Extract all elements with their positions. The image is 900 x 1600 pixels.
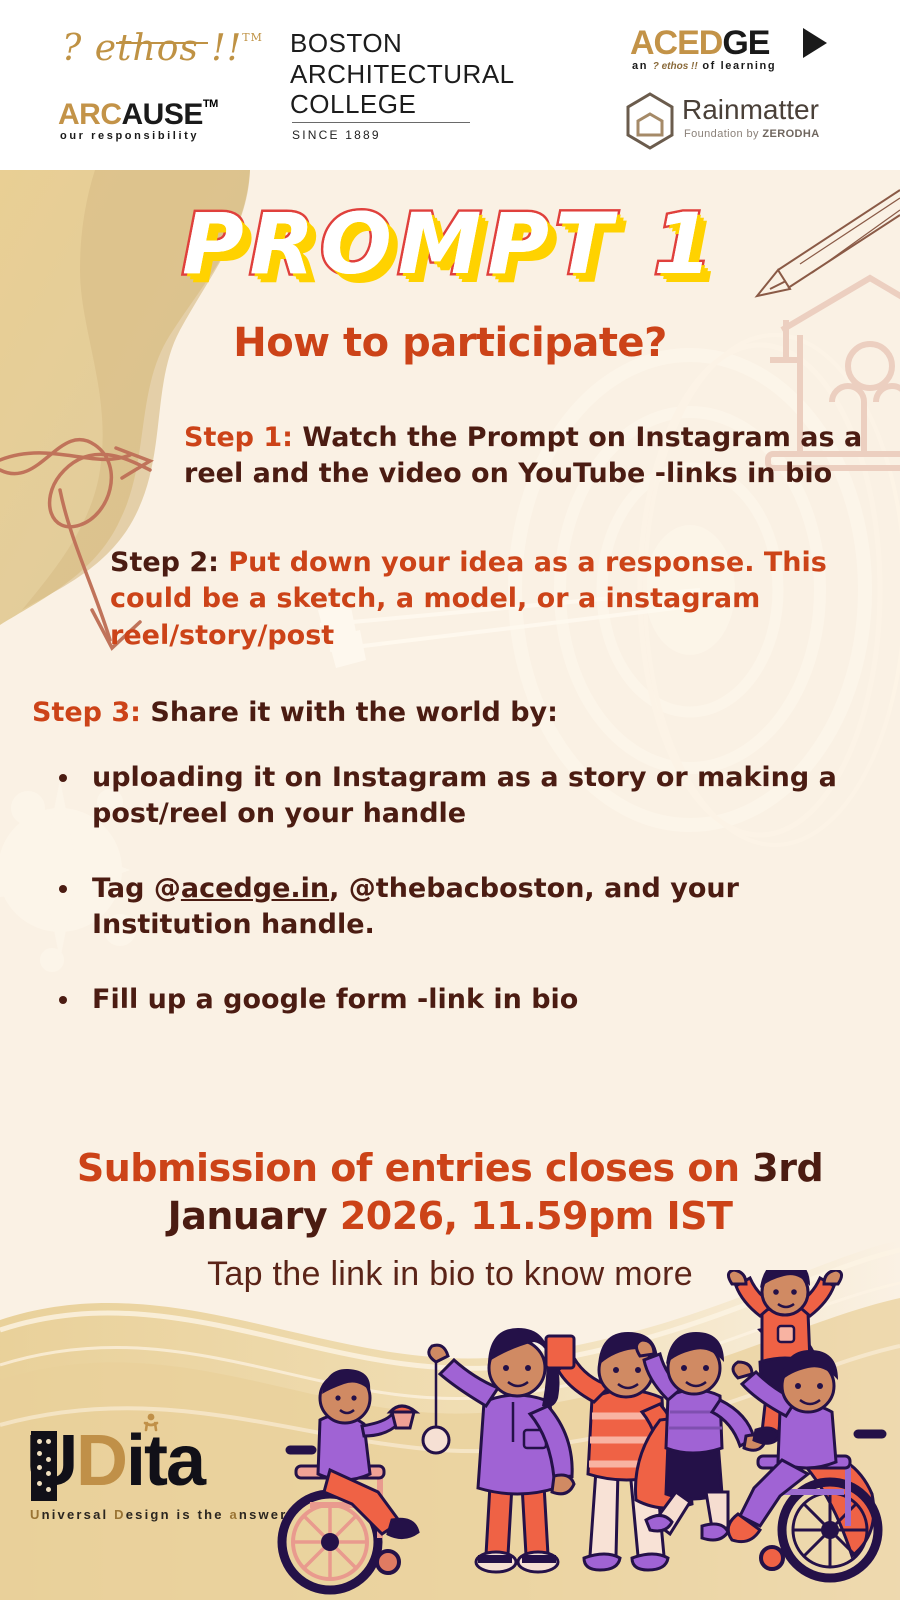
acedge-tagline-post: of learning bbox=[702, 60, 776, 72]
arcause-logo: ARCAUSETM bbox=[58, 98, 218, 132]
udita-tagline: Universal Design is the answer bbox=[30, 1507, 288, 1522]
page-title: PROMPT 1 bbox=[0, 202, 900, 286]
ethos-logo-text: ? ethos !! bbox=[62, 28, 242, 69]
acedge-arrow-icon bbox=[803, 28, 827, 58]
acedge-tagline-ethos: ? ethos !! bbox=[653, 61, 698, 72]
acedge-logo-aced: ACED bbox=[630, 24, 722, 62]
bac-line-2: ARCHITECTURAL bbox=[290, 59, 610, 90]
bullet-3-text: Fill up a google form -link in bio bbox=[92, 984, 578, 1015]
submission-deadline: Submission of entries closes on 3rd Janu… bbox=[0, 1145, 900, 1240]
list-item: Tag @acedge.in, @thebacboston, and your … bbox=[82, 871, 874, 944]
poster-body: PROMPT 1 How to participate? Step 1: Wat… bbox=[0, 170, 900, 1600]
acedge-logo-tagline: an ? ethos !! of learning bbox=[632, 60, 776, 72]
ethos-logo: ? ethos !!TM bbox=[62, 28, 263, 69]
acedge-logo-ge: GE bbox=[722, 24, 769, 62]
bac-since-text: SINCE 1889 bbox=[292, 128, 381, 142]
arcause-logo-tagline: our responsibility bbox=[60, 130, 199, 142]
step-2: Step 2: Put down your idea as a response… bbox=[110, 545, 840, 654]
list-item: uploading it on Instagram as a story or … bbox=[82, 760, 874, 833]
cupcake-icon bbox=[390, 1406, 416, 1428]
udita-logo: UDita Universal Design is the answer bbox=[26, 1425, 286, 1535]
subtitle-how-to-participate: How to participate? bbox=[0, 320, 900, 366]
udita-tagline-niversal: niversal bbox=[42, 1507, 115, 1522]
logo-group-right: ACEDGE an ? ethos !! of learning Rainmat… bbox=[610, 0, 900, 170]
arcause-logo-ause: AUSE bbox=[122, 98, 203, 131]
ethos-logo-underline bbox=[116, 42, 208, 44]
arcause-logo-arc: ARC bbox=[58, 98, 122, 131]
superhero-child-in-wheelchair bbox=[728, 1350, 882, 1578]
arcause-logo-tm: TM bbox=[203, 98, 218, 110]
rainmatter-logo-title: Rainmatter bbox=[682, 94, 819, 126]
yoyo-icon bbox=[423, 1427, 449, 1453]
logo-group-left: ? ethos !!TM ARCAUSETM our responsibilit… bbox=[0, 0, 290, 170]
acedge-handle-link[interactable]: acedge.in bbox=[181, 873, 329, 904]
udita-tagline-u: U bbox=[30, 1507, 42, 1522]
step-3: Step 3: Share it with the world by: bbox=[32, 695, 832, 731]
step-1-label: Step 1: bbox=[184, 422, 293, 453]
step-3-label: Step 3: bbox=[32, 697, 141, 728]
rainmatter-subtitle-pre: Foundation by bbox=[684, 128, 759, 140]
boston-architectural-college-logo: BOSTON ARCHITECTURAL COLLEGE bbox=[290, 28, 610, 120]
step-2-label: Step 2: bbox=[110, 547, 219, 578]
udita-letters-ita: ita bbox=[126, 1421, 204, 1501]
ethos-logo-tm: TM bbox=[242, 31, 263, 44]
bullet-1-text: uploading it on Instagram as a story or … bbox=[92, 762, 837, 829]
bac-divider bbox=[292, 122, 470, 123]
udita-tagline-a: a bbox=[229, 1507, 238, 1522]
udita-tagline-d: D bbox=[114, 1507, 126, 1522]
step-1: Step 1: Watch the Prompt on Instagram as… bbox=[184, 420, 874, 493]
deadline-part-1: Submission of entries closes on bbox=[77, 1146, 752, 1190]
rainmatter-subtitle-brand: ZERODHA bbox=[762, 128, 819, 140]
list-item: Fill up a google form -link in bio bbox=[82, 982, 874, 1018]
logo-group-middle: BOSTON ARCHITECTURAL COLLEGE SINCE 1889 bbox=[290, 0, 610, 170]
rainmatter-logo-subtitle: Foundation by ZERODHA bbox=[684, 128, 820, 140]
rainmatter-hexagon-icon bbox=[624, 92, 676, 150]
acedge-tagline-pre: an bbox=[632, 60, 648, 72]
deadline-part-3: 2026, 11.59pm IST bbox=[327, 1194, 732, 1238]
step-3-text: Share it with the world by: bbox=[141, 697, 558, 728]
child-in-wheelchair-left bbox=[282, 1369, 418, 1590]
sponsor-logo-bar: ? ethos !!TM ARCAUSETM our responsibilit… bbox=[0, 0, 900, 170]
share-bullet-list: uploading it on Instagram as a story or … bbox=[54, 760, 874, 1056]
bullet-2-pre: Tag @ bbox=[92, 873, 181, 904]
poster-root: ? ethos !!TM ARCAUSETM our responsibilit… bbox=[0, 0, 900, 1600]
udita-tagline-rest: esign is the bbox=[126, 1507, 230, 1522]
accessibility-person-icon bbox=[141, 1413, 161, 1433]
bac-line-1: BOSTON bbox=[290, 28, 610, 59]
acedge-logo: ACEDGE bbox=[630, 24, 769, 63]
bac-line-3: COLLEGE bbox=[290, 89, 610, 120]
udita-tagline-nswer: nswer bbox=[239, 1507, 288, 1522]
braille-dots-icon bbox=[31, 1431, 57, 1501]
udita-letter-d: D bbox=[76, 1421, 126, 1501]
cup-icon bbox=[546, 1336, 574, 1368]
